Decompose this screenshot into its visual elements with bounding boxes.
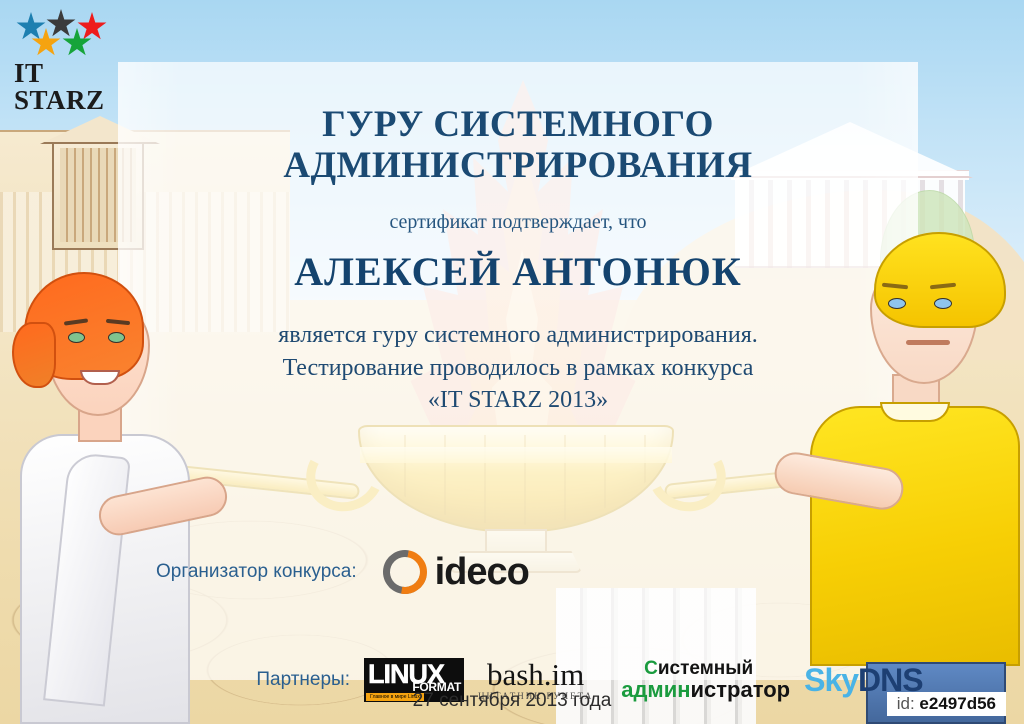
certificate-body: является гуру системного администрирован… [118, 319, 918, 417]
star-red-icon [77, 12, 107, 42]
organizer-row: Организатор конкурса: ideco [156, 550, 880, 594]
body-line-1: является гуру системного администрирован… [118, 319, 918, 352]
certificate-subtitle: сертификат подтверждает, что [118, 211, 918, 234]
certificate-date: 27 сентября 2013 года [0, 690, 1024, 712]
organizer-label: Организатор конкурса: [156, 561, 357, 583]
certificate-id-value: e2497d56 [919, 694, 996, 713]
star-black-icon [46, 9, 76, 39]
body-line-3: «IT STARZ 2013» [118, 384, 918, 417]
ideco-logo: ideco [383, 550, 529, 594]
title-line-1: ГУРУ СИСТЕМНОГО [118, 104, 918, 145]
title-line-2: АДМИНИСТРИРОВАНИЯ [118, 145, 918, 186]
ideco-wordmark: ideco [435, 551, 529, 594]
sysadmin-line-1: Системный [607, 659, 790, 678]
certificate-id-box: id: e2497d56 [887, 692, 1006, 716]
logo-wordmark: IT STARZ [14, 60, 134, 114]
star-blue-icon [16, 12, 46, 42]
partners-label: Партнеры: [238, 669, 350, 691]
certificate-id-label: id: [897, 694, 915, 713]
bash-im-main: bash.im [487, 659, 584, 690]
sysadmin-rest-1: истемный [658, 658, 753, 679]
ideco-mark-icon [383, 550, 427, 594]
body-line-2: Тестирование проводилось в рамках конкур… [118, 352, 918, 385]
certificate-content: ГУРУ СИСТЕМНОГО АДМИНИСТРИРОВАНИЯ сертиф… [118, 62, 918, 680]
it-starz-logo: IT STARZ [14, 8, 134, 88]
certificate-canvas: IT STARZ ГУРУ СИСТЕМНОГО АДМИНИСТРИРОВАН… [0, 0, 1024, 724]
certificate-title: ГУРУ СИСТЕМНОГО АДМИНИСТРИРОВАНИЯ [118, 62, 918, 187]
sysadmin-accent-1: С [644, 658, 658, 679]
recipient-name: АЛЕКСЕЙ АНТОНЮК [118, 248, 918, 295]
star-group-icon [14, 8, 126, 56]
